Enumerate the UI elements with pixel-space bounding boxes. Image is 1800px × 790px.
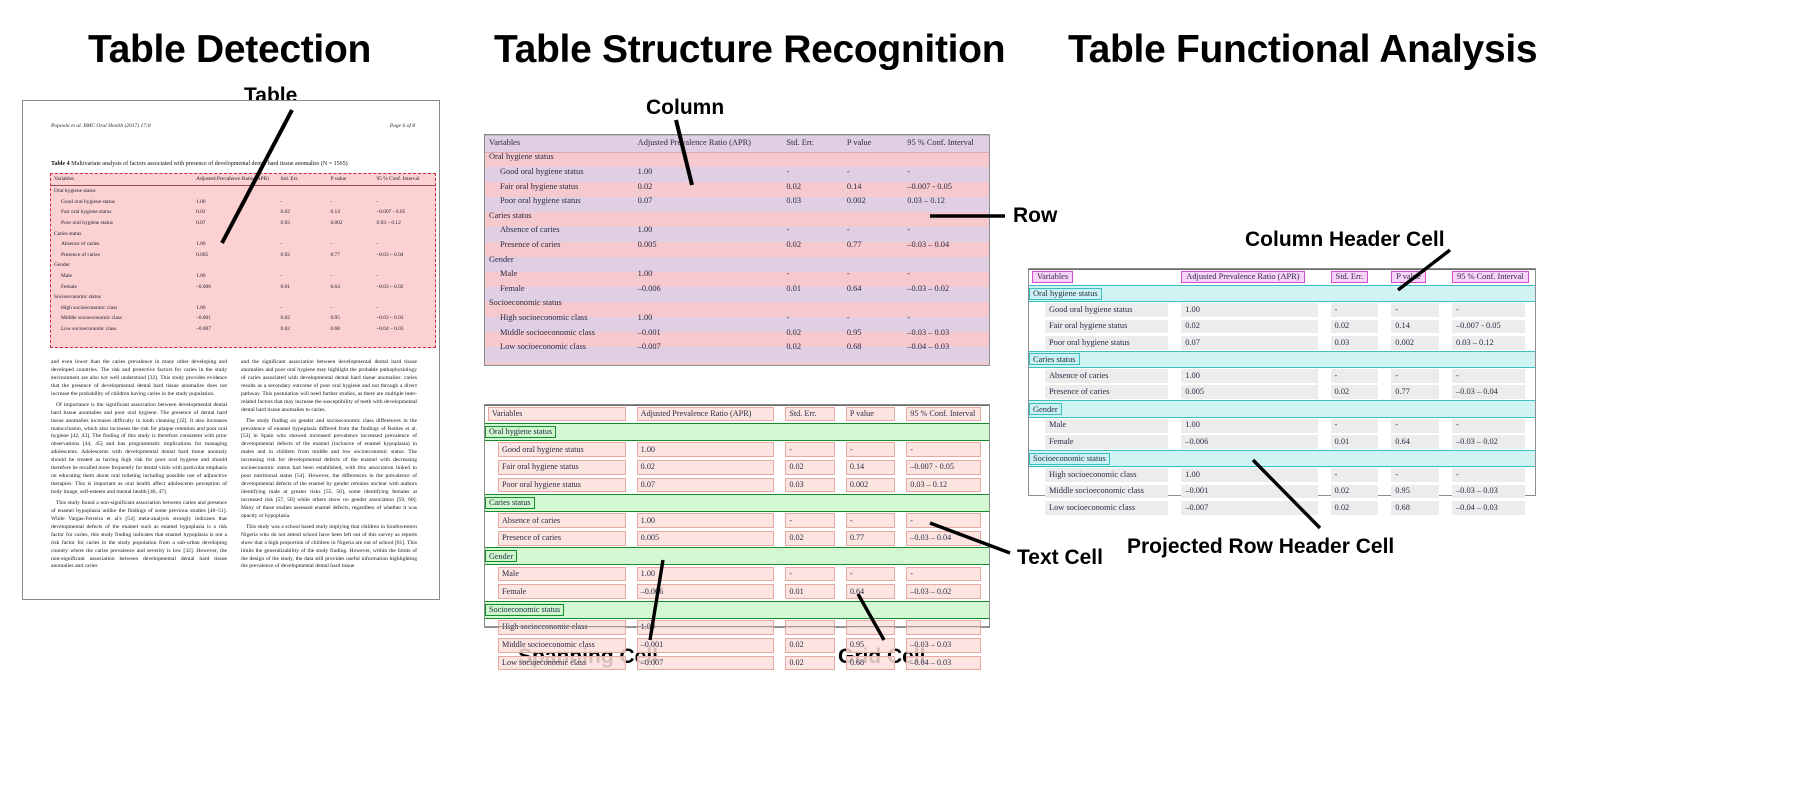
row-label: Good oral hygiene status [51,196,193,207]
spanning-cell-row: Gender [485,548,989,565]
table-row: Female–0.0060.010.64–0.03 – 0.02 [51,281,435,292]
table-row: Middle socioeconomic class–0.0010.020.95… [485,636,989,654]
table-row: Poor oral hygiene status0.070.030.0020.0… [485,476,989,494]
header-cell-apr: Adjusted Prevalence Ratio (APR) [637,407,775,422]
grid-cell: 1.00 [634,440,783,458]
row-header: Socioeconomic status [485,296,634,311]
grid-cell: Middle socioeconomic class [485,636,634,654]
text-cell: - [1328,467,1389,484]
table-row: Fair oral hygiene status0.020.020.14–0.0… [485,179,989,194]
grid-cell: Female [485,583,634,601]
text-cell: 1.00 [1178,467,1327,484]
header-cell-p-value: P value [843,135,903,150]
text-cell: 1.00 [1178,368,1327,385]
header-cell-p-value: P value [327,174,373,185]
text-cell: 1.00 [1178,417,1327,434]
paragraph: and even lower than the caries prevalenc… [51,359,227,399]
text-cell: –0.001 [1178,483,1327,499]
grid-cell: - [903,511,989,529]
paper-column-left: and even lower than the caries prevalenc… [51,359,227,574]
grid-cell: Std. Err. [782,405,842,423]
table-row: Absence of caries1.00--- [485,511,989,529]
table-row: Absence of caries1.00--- [485,223,989,238]
row-label: Female [51,281,193,292]
table-row: Female–0.0060.010.64–0.03 – 0.02 [1029,434,1535,451]
header-cell-std-err: Std. Err. [785,407,834,422]
column-header-cell: P value [1388,269,1449,285]
row-label: Middle socioeconomic class [485,325,634,340]
grid-cell: 0.64 [843,583,903,601]
row-label: High socioeconomic class [51,302,193,313]
grid-cell: Variables [485,405,634,423]
row-label: Male [485,266,634,281]
projected-row-header-cell-row: Oral hygiene status [1029,285,1535,301]
grid-cell: - [782,618,842,636]
grid-cell: 0.002 [843,476,903,494]
text-cell: 0.005 [1178,384,1327,401]
projected-row-header-cell-row: Caries status [1029,351,1535,367]
section-title-table-structure-recognition: Table Structure Recognition [494,28,1005,72]
callout-label-projected-row-header-cell: Projected Row Header Cell [1127,535,1394,559]
row-label: Poor oral hygiene status [485,193,634,208]
header-cell-conf-interval: 95 % Conf. Interval [374,174,435,185]
table-row: Gender [51,260,435,271]
table-row: Presence of caries0.0050.020.77–0.03 – 0… [485,530,989,548]
grid-cell: - [843,618,903,636]
row-label: Presence of caries [51,249,193,260]
table-row: Socioeconomic status [51,292,435,303]
grid-cell: 0.01 [782,583,842,601]
text-cell: 0.95 [1388,483,1449,499]
row-header: Oral hygiene status [51,185,193,196]
table-top-rule [1029,269,1535,270]
caption-label: Table 4 [51,161,70,167]
paper-table-caption: Table 4 Multivariate analysis of factors… [51,161,419,169]
caption-text: Multivariate analysis of factors associa… [71,161,347,167]
grid-cell: High socioeconomic class [485,618,634,636]
row-label: Middle socioeconomic class [51,313,193,324]
table-row: Caries status [51,228,435,239]
table-header-row: Variables Adjusted Prevalence Ratio (APR… [485,135,989,150]
spanning-cell: Socioeconomic status [485,601,989,618]
text-cell: –0.04 – 0.03 [1449,500,1535,516]
grid-cell: 0.02 [782,636,842,654]
grid-cell: 0.005 [634,530,783,548]
table-row: Male1.00--- [485,266,989,281]
text-cell: - [1449,302,1535,319]
projected-row-header-cell: Socioeconomic status [1029,450,1535,466]
table-row: Good oral hygiene status1.00--- [51,196,435,207]
text-cell: –0.03 – 0.03 [1449,483,1535,499]
text-cell: Poor oral hygiene status [1029,335,1178,352]
spanning-cell-row: Oral hygiene status [485,423,989,440]
detected-table: Variables Adjusted Prevalence Ratio (APR… [51,174,435,334]
header-cell-conf-interval: 95 % Conf. Interval [903,135,989,150]
spanning-cell: Oral hygiene status [485,423,989,440]
text-cell: 0.03 – 0.12 [1449,335,1535,352]
functional-analysis-table: Variables Adjusted Prevalence Ratio (APR… [1029,269,1535,516]
row-label: Good oral hygiene status [485,164,634,179]
grid-cell: 1.00 [634,511,783,529]
projected-row-header-cell-row: Gender [1029,401,1535,417]
row-header: Socioeconomic status [51,292,193,303]
text-cell: 0.07 [1178,335,1327,352]
grid-cell: - [903,565,989,583]
column-header-cell: 95 % Conf. Interval [1449,269,1535,285]
table-top-rule [485,405,989,406]
text-cell: 0.02 [1328,384,1389,401]
row-label: High socioeconomic class [485,310,634,325]
section-title-table-functional-analysis: Table Functional Analysis [1068,28,1537,72]
grid-cell: –0.04 – 0.03 [903,654,989,672]
row-label: Female [485,281,634,296]
table-structure-recognition-preview: Variables Adjusted Prevalence Ratio (APR… [484,134,990,366]
text-cell: –0.03 – 0.02 [1449,434,1535,451]
text-cell: –0.007 - 0.05 [1449,318,1535,334]
text-cell: 0.68 [1388,500,1449,516]
grid-cell: 0.03 – 0.12 [903,476,989,494]
table-row: Poor oral hygiene status0.070.030.0020.0… [51,218,435,229]
grid-cell: 0.03 [782,476,842,494]
projected-row-header-cell: Caries status [1029,351,1535,367]
paper-running-head: Popoola et al. BMC Oral Health (2017) 17… [51,123,415,129]
grid-cell: –0.001 [634,636,783,654]
row-label: Absence of caries [51,239,193,250]
spanning-cell: Gender [485,548,989,565]
table-row: Good oral hygiene status1.00--- [485,440,989,458]
projected-row-header-cell: Oral hygiene status [1029,285,1535,301]
row-header: Caries status [485,208,634,223]
grid-cell: 0.02 [782,530,842,548]
grid-cell: 0.77 [843,530,903,548]
paper-page-preview: Popoola et al. BMC Oral Health (2017) 17… [22,100,440,600]
row-label: Presence of caries [485,237,634,252]
paper-column-right: and the significant association between … [241,359,417,574]
table-row: Absence of caries1.00--- [51,239,435,250]
table-row: Good oral hygiene status1.00--- [1029,302,1535,319]
grid-cell: Low socioeconomic class [485,654,634,672]
row-label: Absence of caries [485,223,634,238]
table-row: High socioeconomic class1.00--- [485,618,989,636]
grid-cell: Poor oral hygiene status [485,476,634,494]
table-bottom-rule [485,626,989,627]
table-row: Poor oral hygiene status0.070.030.0020.0… [485,193,989,208]
text-cell: –0.03 – 0.04 [1449,384,1535,401]
row-header: Oral hygiene status [485,150,634,165]
running-head-right: Page 6 of 8 [390,123,415,129]
text-cell: Female [1029,434,1178,451]
grid-cell: - [903,618,989,636]
header-cell-variables: Variables [488,407,626,422]
grid-cell: 0.14 [843,458,903,476]
grid-cell: 0.02 [782,458,842,476]
table-functional-analysis-preview: Variables Adjusted Prevalence Ratio (APR… [1028,268,1536,496]
table-row: Low socioeconomic class–0.0070.020.68–0.… [1029,500,1535,516]
text-cell: Middle socioeconomic class [1029,483,1178,499]
text-cell: 0.02 [1328,483,1389,499]
grid-cell: 95 % Conf. Interval [903,405,989,423]
text-cell: 0.002 [1388,335,1449,352]
text-cell: - [1328,417,1389,434]
grid-cell: Adjusted Prevalence Ratio (APR) [634,405,783,423]
table-row: Fair oral hygiene status0.020.020.14–0.0… [51,207,435,218]
table-row: Female–0.0060.010.64–0.03 – 0.02 [485,583,989,601]
text-cell: - [1449,417,1535,434]
grid-cell: - [782,565,842,583]
table-row: High socioeconomic class1.00--- [1029,467,1535,484]
text-cell: - [1328,368,1389,385]
text-cell: 0.02 [1178,318,1327,334]
callout-label-text-cell: Text Cell [1017,546,1103,570]
grid-cell: - [903,440,989,458]
grid-cell: –0.007 - 0.05 [903,458,989,476]
grid-cell: - [843,440,903,458]
grid-cell: 0.68 [843,654,903,672]
text-cell: Fair oral hygiene status [1029,318,1178,334]
text-cell: 0.03 [1328,335,1389,352]
table-header-row: Variables Adjusted Prevalence Ratio (APR… [485,405,989,423]
header-cell-conf-interval: 95 % Conf. Interval [906,407,981,422]
table-header-row: Variables Adjusted Prevalence Ratio (APR… [51,174,435,185]
table-row: Presence of caries0.0050.020.77–0.03 – 0… [485,237,989,252]
text-cell: Male [1029,417,1178,434]
table-row: Caries status [485,208,989,223]
text-cell: 1.00 [1178,302,1327,319]
text-cell: - [1388,467,1449,484]
figure-canvas: Table Detection Table Structure Recognit… [0,0,1800,790]
column-header-cell: Adjusted Prevalence Ratio (APR) [1178,269,1327,285]
grid-cell: –0.03 – 0.03 [903,636,989,654]
spanning-cell: Caries status [485,494,989,511]
spanning-cell-row: Socioeconomic status [485,601,989,618]
text-cell: - [1449,467,1535,484]
grid-cell: –0.007 [634,654,783,672]
table-row: Middle socioeconomic class–0.0010.020.95… [1029,483,1535,499]
header-cell-std-err: Std. Err. [782,135,842,150]
grid-cell: 0.07 [634,476,783,494]
projected-row-header-cell-row: Socioeconomic status [1029,450,1535,466]
grid-cell: 1.00 [634,565,783,583]
text-cell: - [1449,368,1535,385]
grid-cell: 1.00 [634,618,783,636]
callout-label-column-header-cell: Column Header Cell [1245,228,1445,252]
table-row: Low socioeconomic class–0.0070.020.68–0.… [485,654,989,672]
table-row: Oral hygiene status [485,150,989,165]
grid-cell: Presence of caries [485,530,634,548]
table-row: Male1.00--- [485,565,989,583]
table-row: Middle socioeconomic class–0.0010.020.95… [51,313,435,324]
table-row: Gender [485,252,989,267]
section-title-table-detection: Table Detection [88,28,371,72]
callout-label-row: Row [1013,204,1057,228]
paragraph: This study found a non-significant assoc… [51,500,227,571]
header-cell-apr: Adjusted Prevalence Ratio (APR) [193,174,277,185]
text-cell: Low socioeconomic class [1029,500,1178,516]
row-header: Caries status [51,228,193,239]
table-row: Female–0.0060.010.64–0.03 – 0.02 [485,281,989,296]
column-header-cell: Std. Err. [1328,269,1389,285]
row-label: Male [51,271,193,282]
table-row: Absence of caries1.00--- [1029,368,1535,385]
table-row: Presence of caries0.0050.020.77–0.03 – 0… [1029,384,1535,401]
grid-cell: Absence of caries [485,511,634,529]
header-cell-p-value: P value [846,407,895,422]
cell-structure-table: Variables Adjusted Prevalence Ratio (APR… [485,405,989,672]
grid-cell: - [782,440,842,458]
grid-cell: Good oral hygiene status [485,440,634,458]
grid-cell: 0.02 [782,654,842,672]
table-row: Presence of caries0.0050.020.77–0.03 – 0… [51,249,435,260]
header-cell-std-err: Std. Err. [278,174,328,185]
paragraph: The study finding on gender and socioeco… [241,418,417,521]
row-label: Fair oral hygiene status [485,179,634,194]
paper-body-text: and even lower than the caries prevalenc… [51,359,417,574]
grid-cell: P value [843,405,903,423]
paragraph: and the significant association between … [241,359,417,415]
row-label: Low socioeconomic class [485,339,634,354]
table-row: Fair oral hygiene status0.020.020.14–0.0… [485,458,989,476]
row-label: Poor oral hygiene status [51,218,193,229]
table-row: Poor oral hygiene status0.070.030.0020.0… [1029,335,1535,352]
text-cell: –0.007 [1178,500,1327,516]
grid-cell: - [843,511,903,529]
paragraph: Of importance is the significant associa… [51,402,227,497]
table-row: Male1.00--- [51,271,435,282]
table-row: Good oral hygiene status1.00--- [485,164,989,179]
text-cell: 0.01 [1328,434,1389,451]
text-cell: - [1388,302,1449,319]
table-row: High socioeconomic class1.00--- [51,302,435,313]
table-row: Low socioeconomic class–0.0070.020.68–0.… [485,339,989,354]
table-row: Low socioeconomic class–0.0070.020.68–0.… [51,324,435,335]
table-cell-structure-preview: Variables Adjusted Prevalence Ratio (APR… [484,404,990,628]
table-row: High socioeconomic class1.00--- [485,310,989,325]
spanning-cell-row: Caries status [485,494,989,511]
text-cell: - [1388,368,1449,385]
detected-table-bounding-box: Variables Adjusted Prevalence Ratio (APR… [50,173,436,348]
row-label: Low socioeconomic class [51,324,193,335]
text-cell: 0.14 [1388,318,1449,334]
table-row: Male1.00--- [1029,417,1535,434]
grid-cell: 0.95 [843,636,903,654]
structure-table: Variables Adjusted Prevalence Ratio (APR… [485,135,989,354]
text-cell: 0.77 [1388,384,1449,401]
grid-cell: –0.006 [634,583,783,601]
grid-cell: Male [485,565,634,583]
running-head-left: Popoola et al. BMC Oral Health (2017) 17… [51,123,151,129]
callout-label-column: Column [646,96,724,120]
grid-cell: 0.02 [634,458,783,476]
text-cell: High socioeconomic class [1029,467,1178,484]
table-header-row: Variables Adjusted Prevalence Ratio (APR… [1029,269,1535,285]
text-cell: –0.006 [1178,434,1327,451]
table-row: Middle socioeconomic class–0.0010.020.95… [485,325,989,340]
grid-cell: - [782,511,842,529]
grid-cell: Fair oral hygiene status [485,458,634,476]
row-label: Fair oral hygiene status [51,207,193,218]
row-header: Gender [51,260,193,271]
table-row: Fair oral hygiene status0.020.020.14–0.0… [1029,318,1535,334]
header-cell-variables: Variables [51,174,193,185]
text-cell: Good oral hygiene status [1029,302,1178,319]
column-header-cell: Variables [1029,269,1178,285]
text-cell: Presence of caries [1029,384,1178,401]
projected-row-header-cell: Gender [1029,401,1535,417]
row-header: Gender [485,252,634,267]
grid-cell: - [843,565,903,583]
text-cell: - [1388,417,1449,434]
table-row: Oral hygiene status [51,185,435,196]
grid-cell: –0.03 – 0.04 [903,530,989,548]
text-cell: Absence of caries [1029,368,1178,385]
paragraph: This study was a school based study impl… [241,524,417,572]
text-cell: 0.02 [1328,500,1389,516]
header-cell-apr: Adjusted Prevalence Ratio (APR) [634,135,783,150]
table-row: Socioeconomic status [485,296,989,311]
header-cell-variables: Variables [485,135,634,150]
text-cell: - [1328,302,1389,319]
grid-cell: –0.03 – 0.02 [903,583,989,601]
text-cell: 0.64 [1388,434,1449,451]
text-cell: 0.02 [1328,318,1389,334]
